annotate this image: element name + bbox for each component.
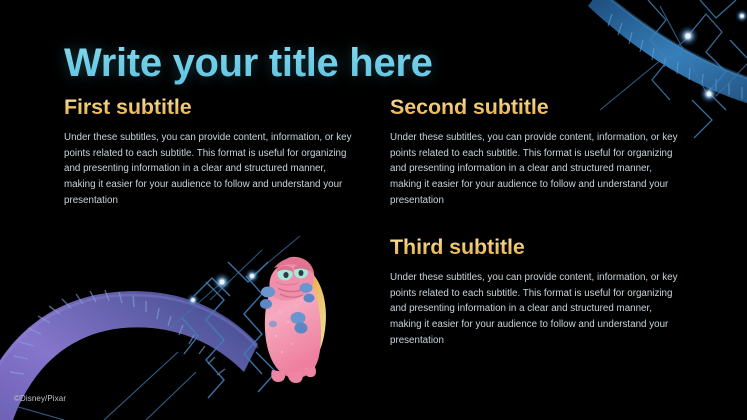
- footer-credit: ©Disney/Pixar: [14, 394, 66, 403]
- body-text-third: Under these subtitles, you can provide c…: [390, 270, 680, 349]
- body-text-second: Under these subtitles, you can provide c…: [390, 130, 680, 209]
- body-text-first: Under these subtitles, you can provide c…: [64, 130, 354, 209]
- slide-content-layer: Write your title here First subtitle Und…: [0, 0, 747, 420]
- subtitle-second: Second subtitle: [390, 96, 686, 120]
- column-first: First subtitle Under these subtitles, yo…: [64, 96, 360, 209]
- column-third: Third subtitle Under these subtitles, yo…: [390, 236, 686, 349]
- page-title: Write your title here: [64, 40, 433, 86]
- presentation-slide: Write your title here First subtitle Und…: [0, 0, 747, 420]
- subtitle-first: First subtitle: [64, 96, 360, 120]
- column-second: Second subtitle Under these subtitles, y…: [390, 96, 686, 209]
- subtitle-third: Third subtitle: [390, 236, 686, 260]
